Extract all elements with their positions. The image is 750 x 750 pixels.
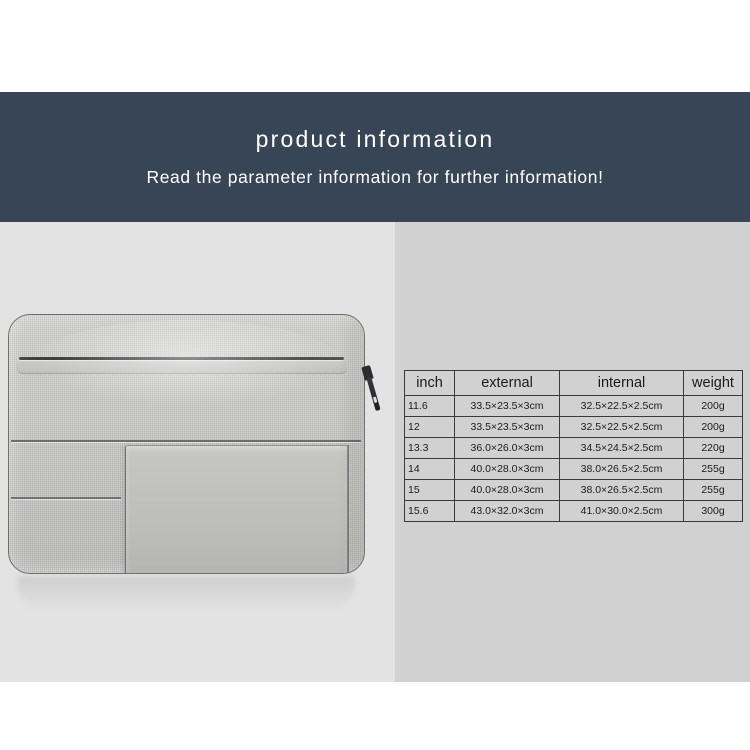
zipper-tab	[366, 377, 380, 411]
cell-weight: 255g	[684, 480, 743, 501]
spec-table-panel: inch external internal weight 11.6 33.5×…	[395, 222, 750, 682]
column-header-external: external	[455, 371, 560, 396]
cell-external: 40.0×28.0×3cm	[455, 480, 560, 501]
cell-external: 43.0×32.0×3cm	[455, 501, 560, 522]
specification-table: inch external internal weight 11.6 33.5×…	[404, 370, 743, 522]
table-row: 15.6 43.0×32.0×3cm 41.0×30.0×2.5cm 300g	[405, 501, 743, 522]
banner: product information Read the parameter i…	[0, 92, 750, 222]
cell-internal: 32.5×22.5×2.5cm	[560, 417, 684, 438]
front-pocket	[125, 445, 348, 574]
table-header-row: inch external internal weight	[405, 371, 743, 396]
banner-subtitle: Read the parameter information for furth…	[146, 168, 603, 187]
cell-inch: 15	[405, 480, 455, 501]
cell-internal: 41.0×30.0×2.5cm	[560, 501, 684, 522]
table-row: 15 40.0×28.0×3cm 38.0×26.5×2.5cm 255g	[405, 480, 743, 501]
cell-inch: 15.6	[405, 501, 455, 522]
cell-inch: 12	[405, 417, 455, 438]
spec-table-wrapper: inch external internal weight 11.6 33.5×…	[404, 370, 742, 522]
side-pocket-seam	[11, 497, 121, 499]
product-information-page: product information Read the parameter i…	[0, 0, 750, 750]
edge-shading	[338, 315, 364, 573]
cell-external: 40.0×28.0×3cm	[455, 459, 560, 480]
cell-external: 33.5×23.5×3cm	[455, 396, 560, 417]
cell-inch: 13.3	[405, 438, 455, 459]
column-header-inch: inch	[405, 371, 455, 396]
page-title: product information	[256, 127, 495, 152]
cell-weight: 300g	[684, 501, 743, 522]
table-row: 12 33.5×23.5×3cm 32.5×22.5×2.5cm 200g	[405, 417, 743, 438]
cell-inch: 14	[405, 459, 455, 480]
cell-weight: 220g	[684, 438, 743, 459]
cell-external: 36.0×26.0×3cm	[455, 438, 560, 459]
column-header-internal: internal	[560, 371, 684, 396]
table-row: 13.3 36.0×26.0×3cm 34.5×24.5×2.5cm 220g	[405, 438, 743, 459]
table-row: 11.6 33.5×23.5×3cm 32.5×22.5×2.5cm 200g	[405, 396, 743, 417]
table-row: 14 40.0×28.0×3cm 38.0×26.5×2.5cm 255g	[405, 459, 743, 480]
zipper-flap	[17, 361, 347, 374]
cell-internal: 34.5×24.5×2.5cm	[560, 438, 684, 459]
cell-weight: 200g	[684, 396, 743, 417]
seam-middle	[11, 440, 361, 442]
zipper-track	[19, 357, 344, 360]
cell-internal: 32.5×22.5×2.5cm	[560, 396, 684, 417]
cell-internal: 38.0×26.5×2.5cm	[560, 459, 684, 480]
column-header-weight: weight	[684, 371, 743, 396]
cell-weight: 255g	[684, 459, 743, 480]
product-photo-panel	[0, 222, 395, 682]
cell-internal: 38.0×26.5×2.5cm	[560, 480, 684, 501]
cell-inch: 11.6	[405, 396, 455, 417]
sleeve-body	[8, 314, 365, 574]
cell-external: 33.5×23.5×3cm	[455, 417, 560, 438]
product-reflection	[18, 576, 355, 610]
product-image-laptop-sleeve	[8, 314, 365, 574]
cell-weight: 200g	[684, 417, 743, 438]
content-area: inch external internal weight 11.6 33.5×…	[0, 222, 750, 682]
